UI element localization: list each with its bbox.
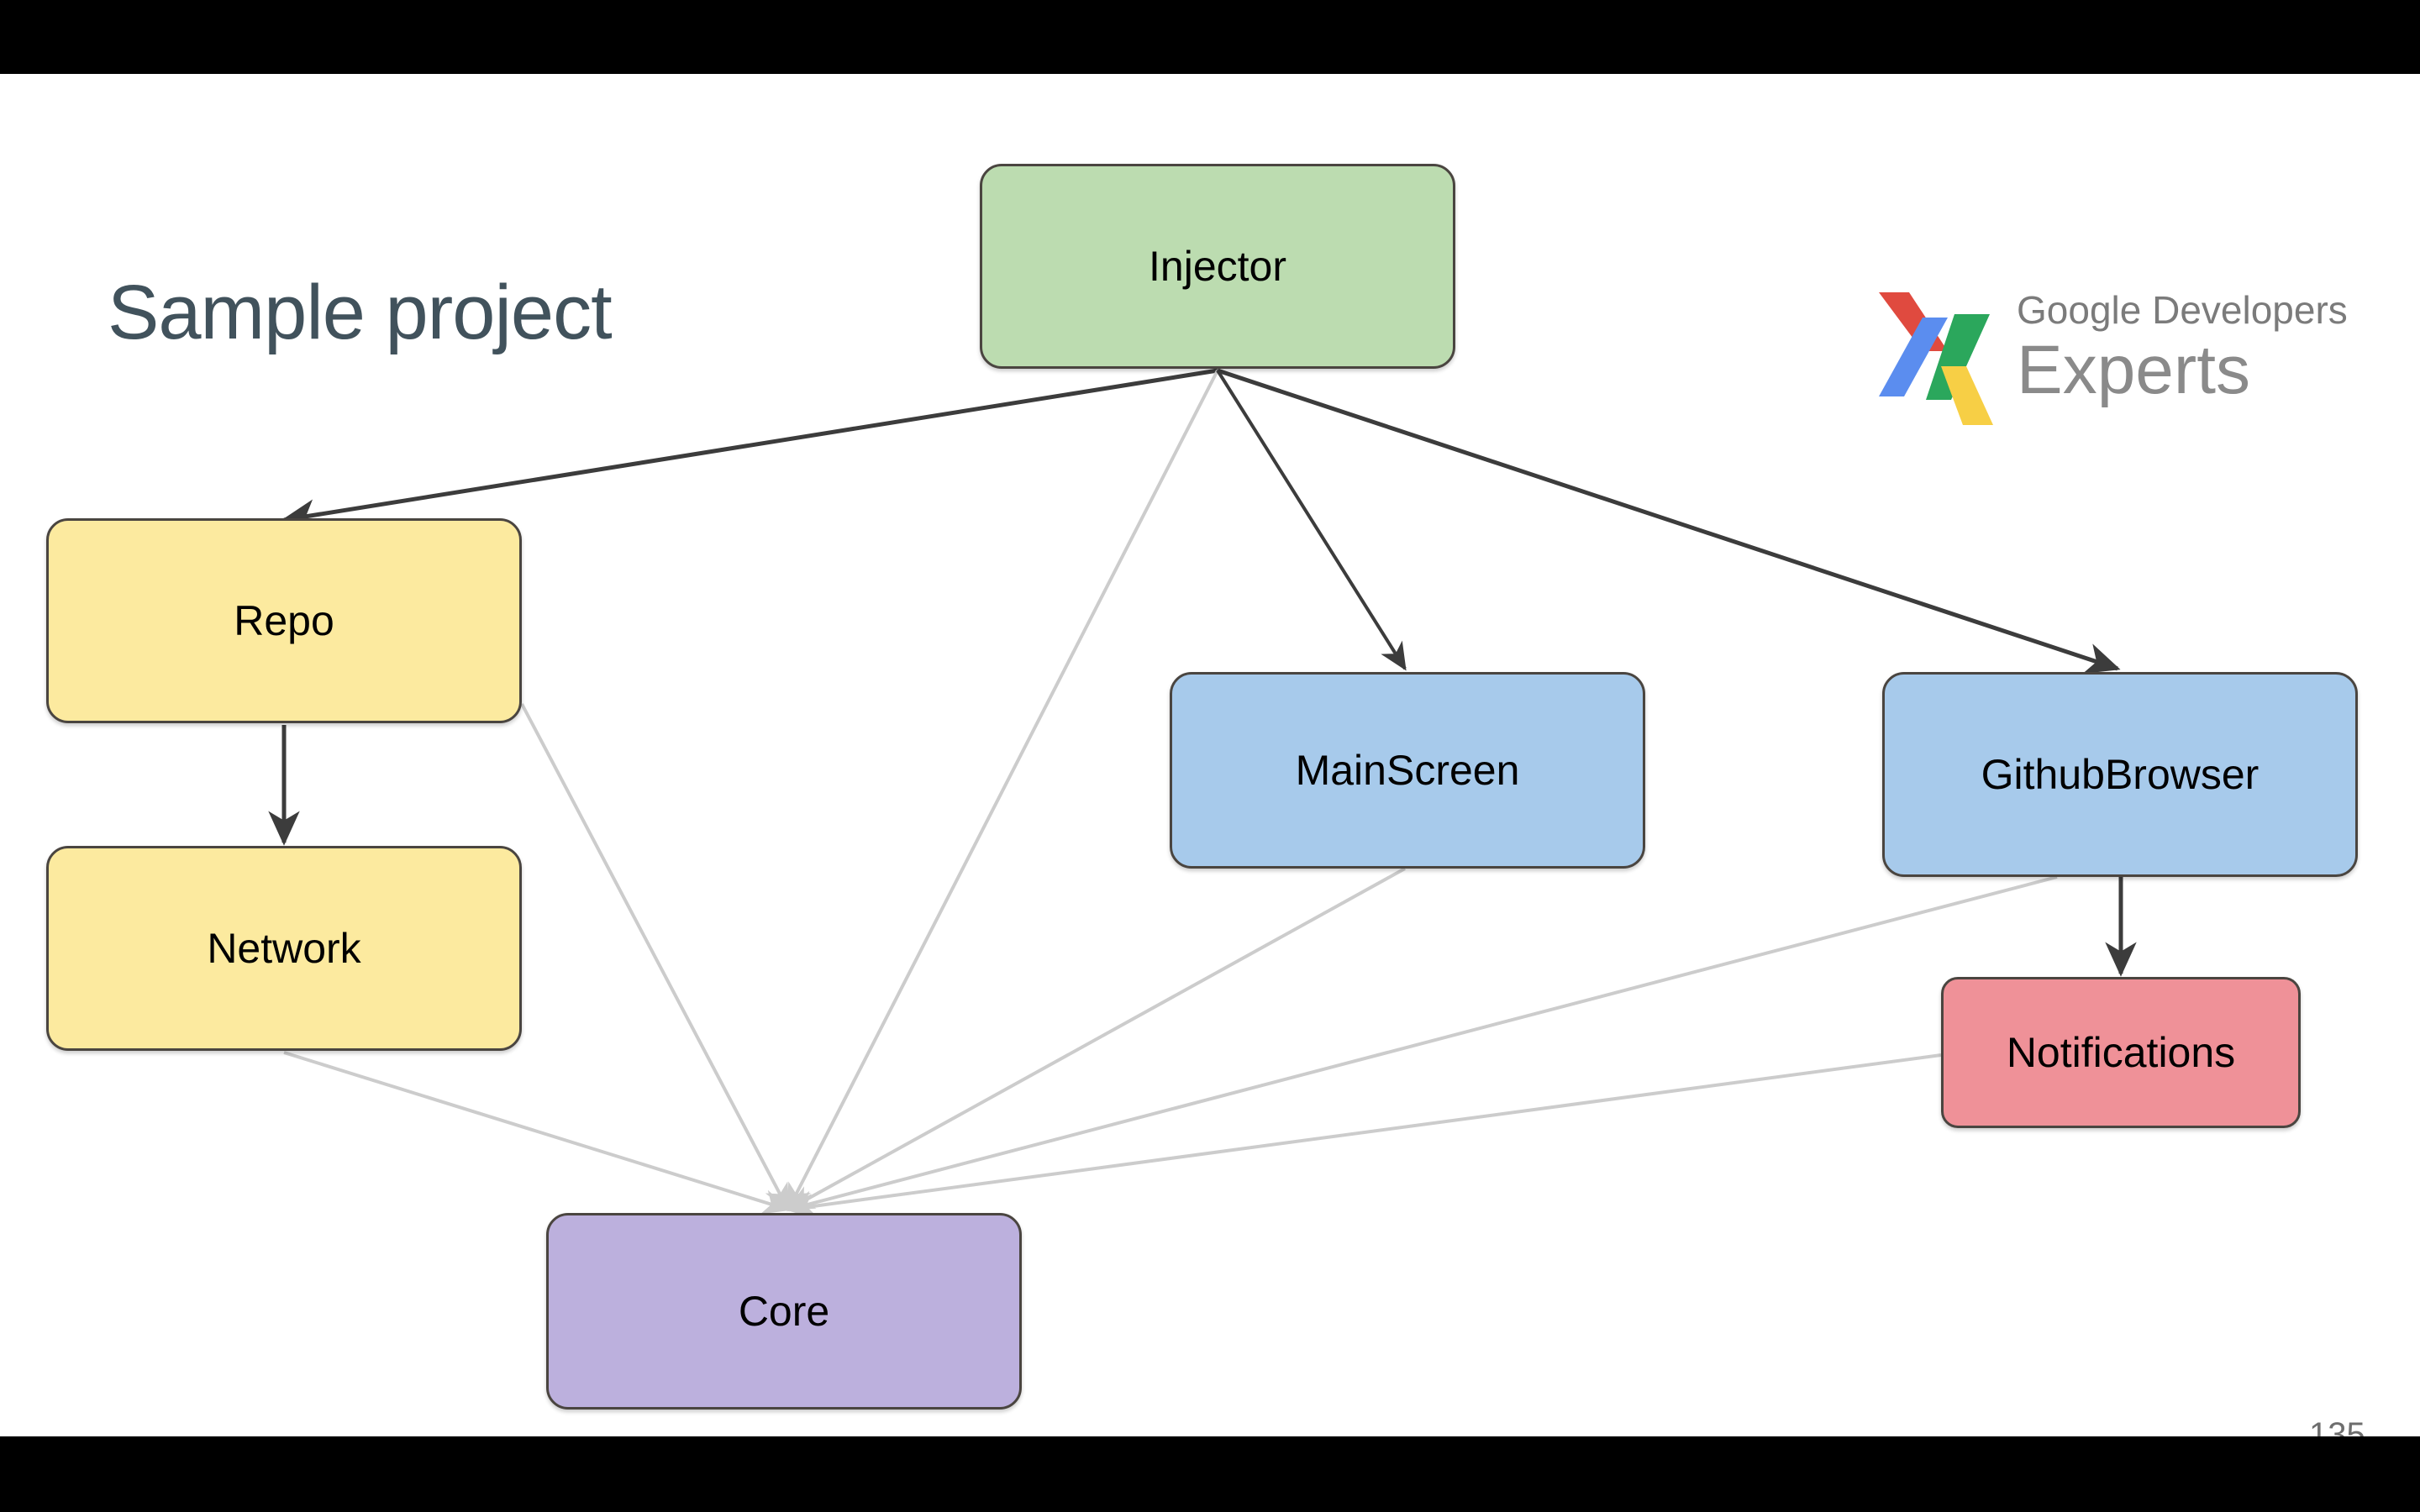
node-label-network: Network bbox=[207, 924, 360, 973]
node-label-injector: Injector bbox=[1149, 242, 1286, 291]
letterbox-top-bar bbox=[0, 0, 2420, 74]
diagram-node-core[interactable]: Core bbox=[546, 1213, 1022, 1410]
edge-injector-repo bbox=[284, 370, 1218, 520]
diagram-node-injector[interactable]: Injector bbox=[980, 164, 1455, 369]
edge-injector-core bbox=[788, 370, 1218, 1210]
edge-githubbrowser-core bbox=[788, 877, 2057, 1210]
slide-frame: Sample project 135 Google Developers Exp… bbox=[0, 0, 2420, 1512]
diagram-node-notifications[interactable]: Notifications bbox=[1941, 977, 2301, 1128]
diagram-node-network[interactable]: Network bbox=[46, 846, 522, 1051]
node-label-notifications: Notifications bbox=[2007, 1028, 2235, 1077]
node-label-mainscreen: MainScreen bbox=[1296, 746, 1520, 795]
edge-notifications-core bbox=[788, 1055, 1941, 1210]
edge-injector-githubbrowser bbox=[1218, 370, 2117, 669]
diagram-node-repo[interactable]: Repo bbox=[46, 518, 522, 723]
node-label-core: Core bbox=[739, 1287, 829, 1336]
edge-repo-core bbox=[522, 704, 788, 1210]
letterbox-bottom-bar bbox=[0, 1436, 2420, 1512]
edge-network-core bbox=[284, 1053, 788, 1210]
edge-mainscreen-core bbox=[788, 869, 1405, 1210]
edge-injector-mainscreen bbox=[1218, 370, 1405, 669]
node-label-repo: Repo bbox=[234, 596, 334, 645]
diagram-node-mainscreen[interactable]: MainScreen bbox=[1170, 672, 1645, 869]
slide-canvas: Sample project 135 Google Developers Exp… bbox=[0, 74, 2420, 1436]
node-label-githubbrowser: GithubBrowser bbox=[1981, 750, 2260, 799]
diagram-node-githubbrowser[interactable]: GithubBrowser bbox=[1882, 672, 2358, 877]
